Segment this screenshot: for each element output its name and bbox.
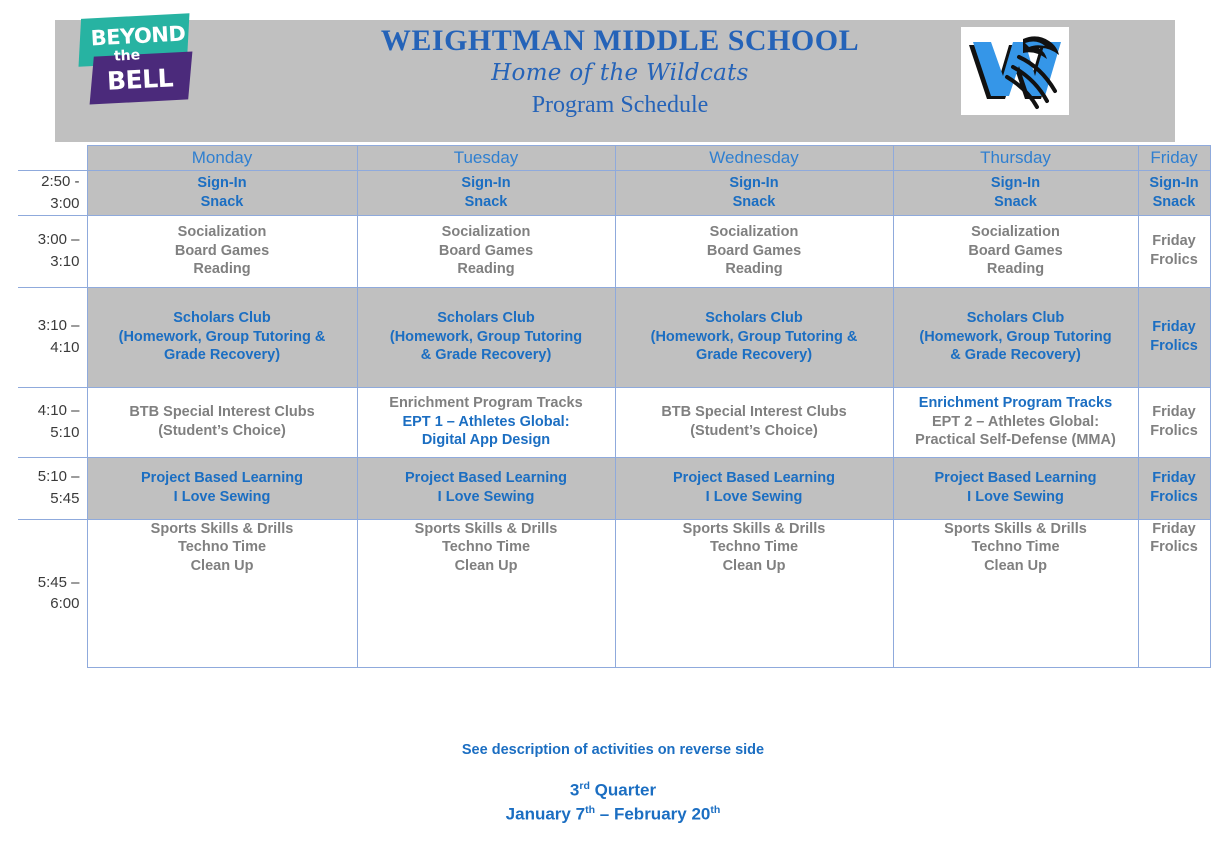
schedule-row: 4:10 –5:10BTB Special Interest Clubs(Stu…	[18, 387, 1210, 457]
activity-line: Project Based Learning	[616, 469, 893, 488]
activity-line: Sports Skills & Drills	[88, 520, 357, 539]
activity-line: Scholars Club	[358, 309, 615, 328]
activity-line: Board Games	[88, 242, 357, 261]
activity-line: Board Games	[616, 242, 893, 261]
activity-line: Frolics	[1139, 422, 1210, 441]
footer-date-range: January 7th – February 20th	[0, 804, 1226, 825]
schedule-cell[interactable]: FridayFrolics	[1138, 457, 1210, 519]
activity-line: (Homework, Group Tutoring	[358, 328, 615, 347]
time-start: 3:00 –	[18, 229, 80, 251]
wildcat-logo-icon	[961, 27, 1069, 115]
schedule-row: 3:10 –4:10Scholars Club(Homework, Group …	[18, 287, 1210, 387]
activity-line: I Love Sewing	[894, 488, 1138, 507]
schedule-cell[interactable]: Sports Skills & DrillsTechno TimeClean U…	[87, 519, 357, 667]
schedule-cell[interactable]: Scholars Club(Homework, Group Tutoring& …	[893, 287, 1138, 387]
day-header-thursday: Thursday	[893, 146, 1138, 171]
activity-line: Techno Time	[358, 538, 615, 557]
activity-line: Friday	[1139, 318, 1210, 337]
day-header-friday: Friday	[1138, 146, 1210, 171]
table-body: 2:50 -3:00Sign-InSnackSign-InSnackSign-I…	[18, 171, 1210, 668]
schedule-cell[interactable]: BTB Special Interest Clubs(Student’s Cho…	[615, 387, 893, 457]
activity-line: Clean Up	[88, 557, 357, 576]
time-slot-label: 4:10 –5:10	[18, 387, 87, 457]
schedule-cell[interactable]: Scholars Club(Homework, Group Tutoring &…	[615, 287, 893, 387]
activity-line: Board Games	[894, 242, 1138, 261]
activity-line: Socialization	[358, 223, 615, 242]
start-month: January	[506, 804, 571, 823]
end-ordinal: th	[710, 804, 720, 816]
activity-line: Friday	[1139, 232, 1210, 251]
quarter-ordinal: rd	[579, 780, 590, 792]
activity-line: Scholars Club	[616, 309, 893, 328]
school-name: WEIGHTMAN MIDDLE SCHOOL	[300, 24, 940, 57]
school-tagline: Home of the Wildcats	[300, 57, 940, 90]
footer-note: See description of activities on reverse…	[0, 742, 1226, 758]
activity-line: Techno Time	[894, 538, 1138, 557]
time-slot-label: 2:50 -3:00	[18, 171, 87, 216]
activity-line: Snack	[616, 193, 893, 212]
wildcat-logo	[961, 27, 1069, 115]
time-end: 3:10	[18, 251, 80, 273]
schedule-cell[interactable]: Project Based LearningI Love Sewing	[893, 457, 1138, 519]
activity-line: Snack	[358, 193, 615, 212]
activity-line: BTB Special Interest Clubs	[616, 403, 893, 422]
time-slot-label: 3:00 –3:10	[18, 215, 87, 287]
schedule-cell[interactable]: FridayFrolics	[1138, 215, 1210, 287]
schedule-cell[interactable]: Project Based LearningI Love Sewing	[357, 457, 615, 519]
activity-line: Frolics	[1139, 488, 1210, 507]
activity-line: Scholars Club	[894, 309, 1138, 328]
time-start: 4:10 –	[18, 400, 80, 422]
activity-line: Snack	[894, 193, 1138, 212]
schedule-cell[interactable]: Project Based LearningI Love Sewing	[87, 457, 357, 519]
start-day: 7	[576, 804, 585, 823]
schedule-cell[interactable]: Sign-InSnack	[1138, 171, 1210, 216]
header-title-block: WEIGHTMAN MIDDLE SCHOOL Home of the Wild…	[300, 24, 940, 122]
activity-line: Sign-In	[894, 174, 1138, 193]
schedule-cell[interactable]: Sign-InSnack	[87, 171, 357, 216]
schedule-cell[interactable]: Sports Skills & DrillsTechno TimeClean U…	[893, 519, 1138, 667]
schedule-cell[interactable]: Sports Skills & DrillsTechno TimeClean U…	[615, 519, 893, 667]
activity-line: Sign-In	[88, 174, 357, 193]
schedule-cell[interactable]: FridayFrolics	[1138, 287, 1210, 387]
time-end: 4:10	[18, 337, 80, 359]
schedule-cell[interactable]: Sports Skills & DrillsTechno TimeClean U…	[357, 519, 615, 667]
activity-line: Techno Time	[88, 538, 357, 557]
schedule-cell[interactable]: Sign-InSnack	[615, 171, 893, 216]
activity-line: Friday	[1139, 520, 1210, 539]
schedule-row: 5:45 –6:00Sports Skills & DrillsTechno T…	[18, 519, 1210, 667]
time-end: 6:00	[18, 593, 80, 615]
time-slot-label: 5:10 –5:45	[18, 457, 87, 519]
logo-text-the: the	[114, 47, 141, 64]
activity-line: I Love Sewing	[88, 488, 357, 507]
schedule-cell[interactable]: Scholars Club(Homework, Group Tutoring& …	[357, 287, 615, 387]
date-dash: –	[600, 804, 609, 823]
activity-line: (Homework, Group Tutoring	[894, 328, 1138, 347]
schedule-cell[interactable]: SocializationBoard GamesReading	[357, 215, 615, 287]
activity-line: Snack	[88, 193, 357, 212]
activity-line: Sports Skills & Drills	[616, 520, 893, 539]
activity-line: Reading	[894, 260, 1138, 279]
day-header-wednesday: Wednesday	[615, 146, 893, 171]
time-start: 5:45 –	[18, 572, 80, 594]
schedule-cell[interactable]: SocializationBoard GamesReading	[87, 215, 357, 287]
activity-line: Socialization	[88, 223, 357, 242]
activity-line: Project Based Learning	[358, 469, 615, 488]
activity-line: Digital App Design	[358, 431, 615, 450]
activity-line: (Student’s Choice)	[616, 422, 893, 441]
time-slot-label: 5:45 –6:00	[18, 519, 87, 667]
activity-line: Techno Time	[616, 538, 893, 557]
schedule-cell[interactable]: BTB Special Interest Clubs(Student’s Cho…	[87, 387, 357, 457]
schedule-cell[interactable]: Sign-InSnack	[357, 171, 615, 216]
quarter-number: 3	[570, 781, 579, 800]
time-end: 5:10	[18, 422, 80, 444]
schedule-cell[interactable]: Enrichment Program TracksEPT 2 – Athlete…	[893, 387, 1138, 457]
schedule-row: 2:50 -3:00Sign-InSnackSign-InSnackSign-I…	[18, 171, 1210, 216]
activity-line: Clean Up	[616, 557, 893, 576]
footer-block: See description of activities on reverse…	[0, 742, 1226, 824]
activity-line: Reading	[358, 260, 615, 279]
activity-line: I Love Sewing	[358, 488, 615, 507]
activity-line: Clean Up	[894, 557, 1138, 576]
document-type: Program Schedule	[300, 90, 940, 121]
time-start: 5:10 –	[18, 466, 80, 488]
schedule-cell[interactable]: FridayFrolics	[1138, 387, 1210, 457]
activity-line: EPT 1 – Athletes Global:	[358, 413, 615, 432]
activity-line: Frolics	[1139, 251, 1210, 270]
activity-line: Clean Up	[358, 557, 615, 576]
activity-line: & Grade Recovery)	[358, 346, 615, 365]
activity-line: Project Based Learning	[894, 469, 1138, 488]
activity-line: Practical Self-Defense (MMA)	[894, 431, 1138, 450]
activity-line: Sign-In	[616, 174, 893, 193]
day-header-monday: Monday	[87, 146, 357, 171]
activity-line: Enrichment Program Tracks	[358, 394, 615, 413]
activity-line: Board Games	[358, 242, 615, 261]
schedule-row: 5:10 –5:45Project Based LearningI Love S…	[18, 457, 1210, 519]
quarter-label: Quarter	[595, 781, 656, 800]
schedule-cell[interactable]: Scholars Club(Homework, Group Tutoring &…	[87, 287, 357, 387]
activity-line: Socialization	[616, 223, 893, 242]
activity-line: Sign-In	[358, 174, 615, 193]
logo-text-bell: BELL	[93, 63, 186, 97]
time-end: 5:45	[18, 488, 80, 510]
beyond-the-bell-logo: BEYOND the BELL	[78, 10, 198, 110]
activity-line: Reading	[88, 260, 357, 279]
activity-line: I Love Sewing	[616, 488, 893, 507]
schedule-cell[interactable]: SocializationBoard GamesReading	[615, 215, 893, 287]
activity-line: Snack	[1139, 193, 1210, 212]
activity-line: Friday	[1139, 403, 1210, 422]
footer-quarter: 3rd Quarter	[0, 780, 1226, 801]
activity-line: EPT 2 – Athletes Global:	[894, 413, 1138, 432]
schedule-cell[interactable]: Sign-InSnack	[893, 171, 1138, 216]
activity-line: Sports Skills & Drills	[358, 520, 615, 539]
activity-line: Project Based Learning	[88, 469, 357, 488]
activity-line: Frolics	[1139, 337, 1210, 356]
activity-line: Reading	[616, 260, 893, 279]
activity-line: & Grade Recovery)	[894, 346, 1138, 365]
schedule-cell[interactable]: Project Based LearningI Love Sewing	[615, 457, 893, 519]
day-header-tuesday: Tuesday	[357, 146, 615, 171]
activity-line: Sports Skills & Drills	[894, 520, 1138, 539]
activity-line: Scholars Club	[88, 309, 357, 328]
activity-line: (Homework, Group Tutoring &	[88, 328, 357, 347]
schedule-cell[interactable]: Enrichment Program TracksEPT 1 – Athlete…	[357, 387, 615, 457]
end-month: February	[614, 804, 687, 823]
time-end: 3:00	[18, 193, 80, 215]
activity-line: Socialization	[894, 223, 1138, 242]
activity-line: Sign-In	[1139, 174, 1210, 193]
activity-line: Frolics	[1139, 538, 1210, 557]
activity-line: Friday	[1139, 469, 1210, 488]
activity-line: (Student’s Choice)	[88, 422, 357, 441]
end-day: 20	[691, 804, 710, 823]
schedule-row: 3:00 –3:10SocializationBoard GamesReadin…	[18, 215, 1210, 287]
activity-line: Enrichment Program Tracks	[894, 394, 1138, 413]
time-column-header	[18, 146, 87, 171]
schedule-cell[interactable]: SocializationBoard GamesReading	[893, 215, 1138, 287]
time-start: 3:10 –	[18, 315, 80, 337]
program-schedule-table: Monday Tuesday Wednesday Thursday Friday…	[18, 145, 1211, 668]
table-header-row: Monday Tuesday Wednesday Thursday Friday	[18, 146, 1210, 171]
start-ordinal: th	[585, 804, 595, 816]
activity-line: Grade Recovery)	[616, 346, 893, 365]
schedule-cell[interactable]: FridayFrolics	[1138, 519, 1210, 667]
activity-line: (Homework, Group Tutoring &	[616, 328, 893, 347]
time-slot-label: 3:10 –4:10	[18, 287, 87, 387]
activity-line: BTB Special Interest Clubs	[88, 403, 357, 422]
time-start: 2:50 -	[18, 171, 80, 193]
activity-line: Grade Recovery)	[88, 346, 357, 365]
